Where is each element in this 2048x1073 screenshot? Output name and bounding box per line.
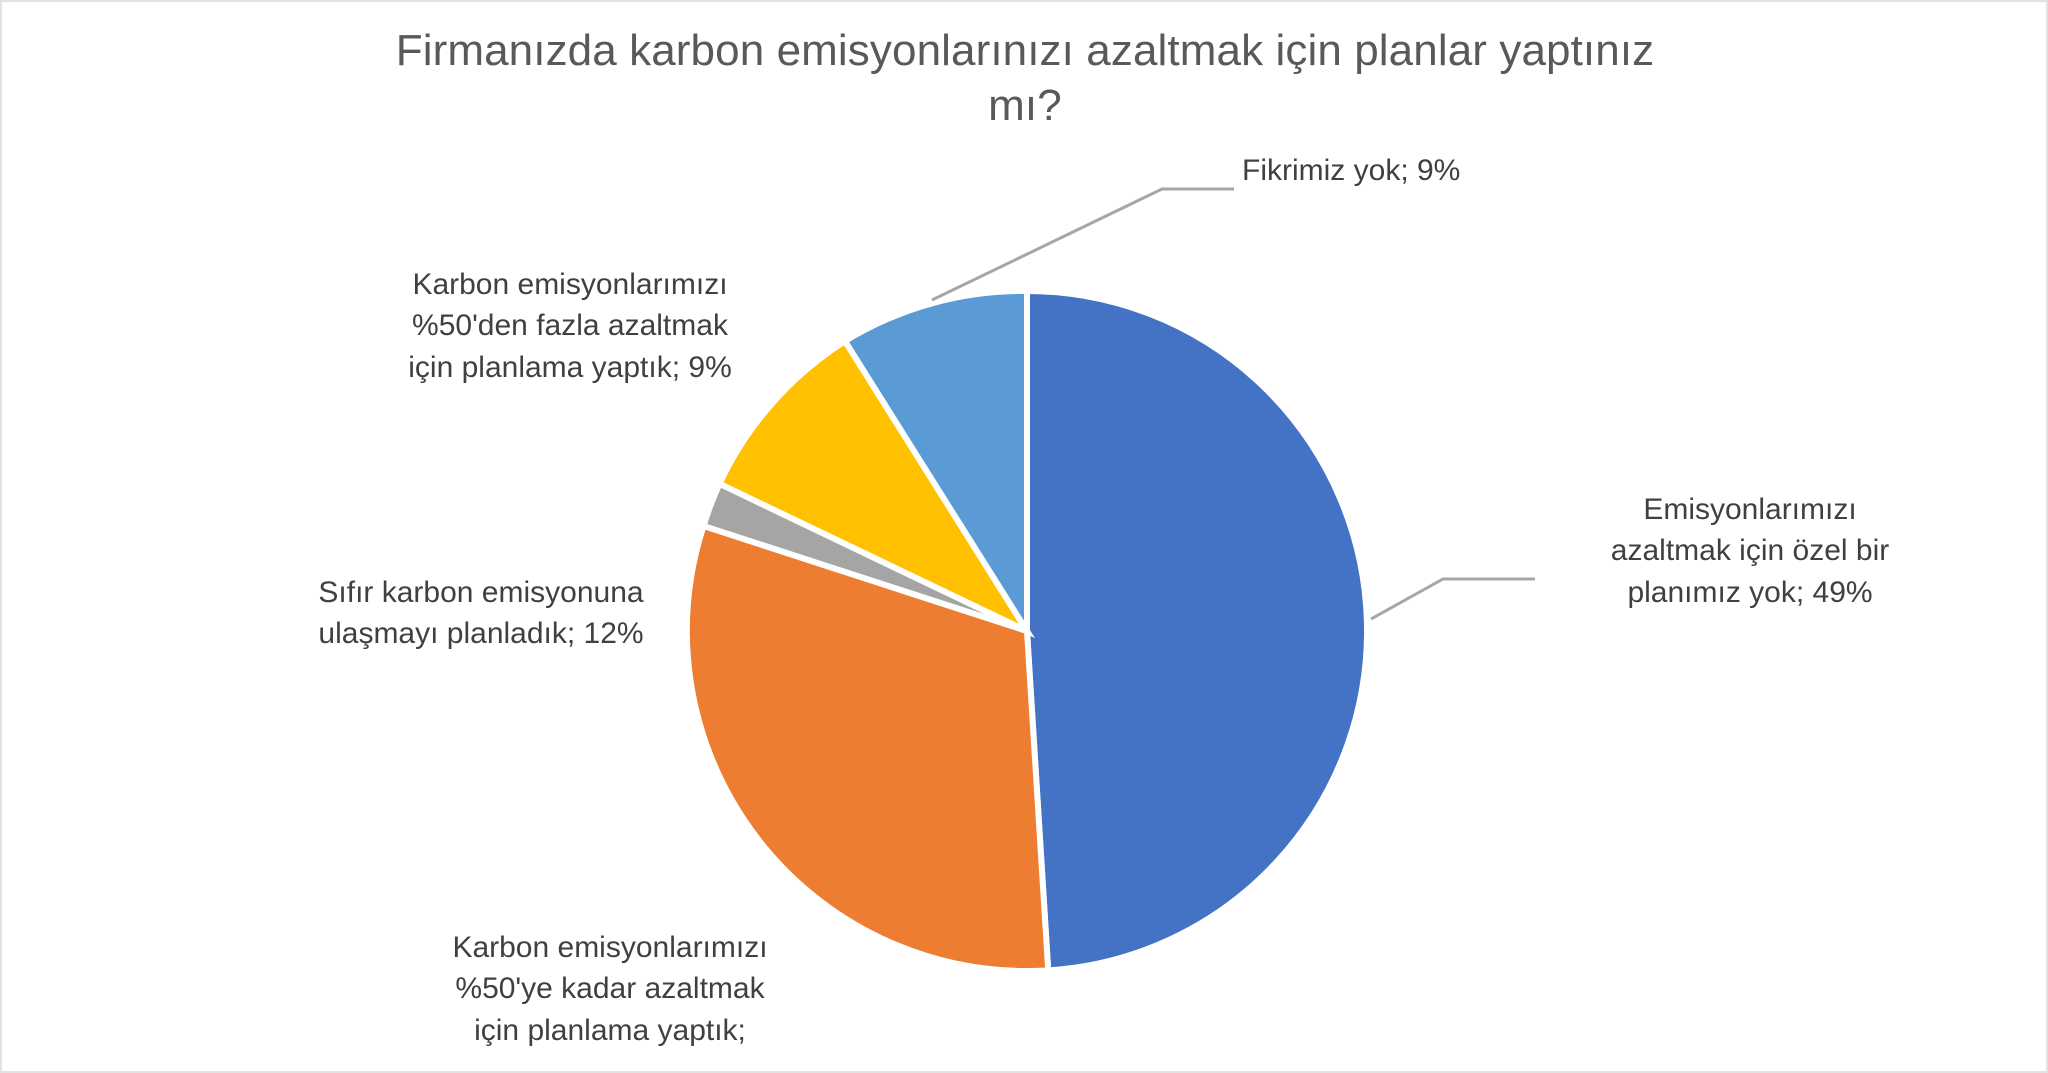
data-label-more-than-50: Karbon emisyonlarımızı %50'den fazla aza… <box>370 264 770 388</box>
leader-line-no-idea <box>932 189 1234 300</box>
pie-slice-emisyonlarimizi-ozel-plan-yok[interactable] <box>1027 291 1367 970</box>
leader-line-no-plan <box>1371 579 1535 619</box>
data-label-no-plan: Emisyonlarımızı azaltmak için özel bir p… <box>1550 489 1950 613</box>
pie-chart-container: Firmanızda karbon emisyonlarınızı azaltm… <box>0 0 2048 1073</box>
data-label-zero-carbon: Sıfır karbon emisyonuna ulaşmayı planlad… <box>286 572 676 655</box>
data-label-up-to-50: Karbon emisyonlarımızı %50'ye kadar azal… <box>410 927 810 1051</box>
data-label-no-idea: Fikrimiz yok; 9% <box>1242 150 1582 191</box>
